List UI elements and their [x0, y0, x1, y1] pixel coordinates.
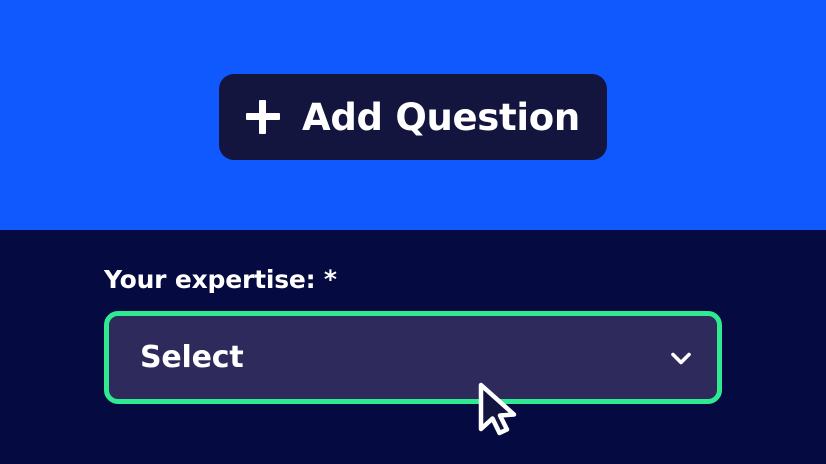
expertise-select[interactable]: Select — [104, 311, 722, 404]
add-question-button[interactable]: Add Question — [219, 74, 607, 160]
screen-root: Add Question Your expertise: * Select — [0, 0, 826, 464]
add-question-button-label: Add Question — [302, 99, 580, 136]
chevron-down-icon[interactable] — [667, 344, 695, 372]
plus-icon — [246, 100, 280, 134]
expertise-field-label: Your expertise: * — [104, 266, 337, 294]
expertise-select-value: Select — [140, 343, 244, 373]
